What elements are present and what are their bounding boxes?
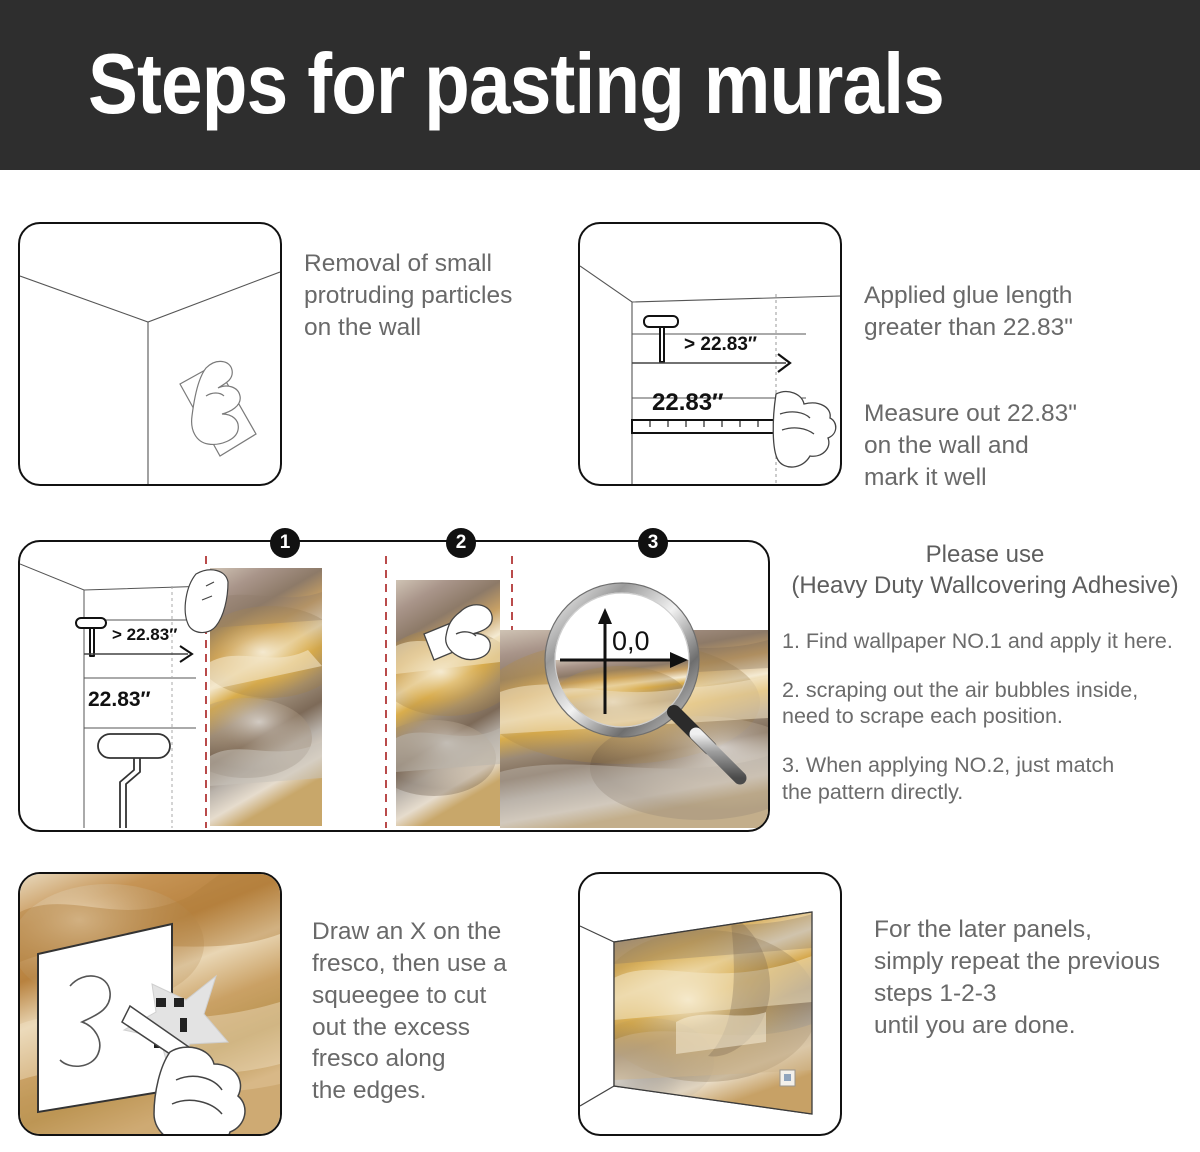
- header-banner: Steps for pasting murals: [0, 0, 1200, 170]
- caption-finished: For the later panels, simply repeat the …: [874, 914, 1200, 1041]
- paint-roller-icon: [98, 734, 170, 828]
- hand-with-sandpaper-icon: [180, 361, 256, 456]
- ruler-icon: [632, 420, 782, 433]
- mural-strip-2: [372, 580, 518, 826]
- arrow-right-icon: [632, 354, 790, 372]
- roller-tool-icon: [76, 618, 106, 656]
- hand-icon: [773, 392, 836, 467]
- finished-wall-diagram: [580, 874, 840, 1134]
- adhesive-line-1: Please use: [775, 540, 1195, 571]
- roller-tool-icon: [644, 316, 678, 362]
- page-title: Steps for pasting murals: [88, 36, 944, 134]
- label-greater-than: > 22.83″: [684, 334, 757, 355]
- light-switch-icon: [780, 1070, 795, 1086]
- instruction-sheet: Steps for pasting murals Removal of smal…: [0, 0, 1200, 1152]
- panel-sanding: [18, 222, 282, 486]
- panel-apply: > 22.83″ 22.83″: [18, 540, 770, 832]
- measure-diagram: > 22.83″ 22.83″: [580, 224, 840, 484]
- wall-corner-diagram: [20, 224, 280, 484]
- step-badge-2: 2: [446, 528, 476, 558]
- panel-trim: [18, 872, 282, 1136]
- trim-diagram: [20, 874, 280, 1134]
- arrow-right-icon: [84, 646, 192, 662]
- step-instruction-3: 3. When applying NO.2, just match the pa…: [782, 752, 1194, 805]
- label-exact-length: 22.83″: [88, 688, 151, 711]
- caption-glue-length: Applied glue length greater than 22.83": [864, 280, 1164, 344]
- caption-measure-mark: Measure out 22.83" on the wall and mark …: [864, 398, 1164, 494]
- label-greater-than: > 22.83″: [112, 625, 177, 644]
- label-origin: 0,0: [612, 626, 650, 656]
- adhesive-line-2: (Heavy Duty Wallcovering Adhesive): [775, 571, 1195, 602]
- step-instruction-1: 1. Find wallpaper NO.1 and apply it here…: [782, 628, 1194, 655]
- label-exact-length: 22.83″: [652, 389, 724, 416]
- panel-finished: [578, 872, 842, 1136]
- caption-trim: Draw an X on the fresco, then use a sque…: [312, 916, 562, 1107]
- step-instructions: 1. Find wallpaper NO.1 and apply it here…: [782, 628, 1194, 827]
- step-badge-3: 3: [638, 528, 668, 558]
- step-badge-1: 1: [270, 528, 300, 558]
- adhesive-note: Please use (Heavy Duty Wallcovering Adhe…: [775, 540, 1195, 601]
- caption-sanding: Removal of small protruding particles on…: [304, 248, 564, 344]
- apply-diagram: > 22.83″ 22.83″: [20, 542, 768, 830]
- step-instruction-2: 2. scraping out the air bubbles inside, …: [782, 677, 1194, 730]
- panel-measure: > 22.83″ 22.83″: [578, 222, 842, 486]
